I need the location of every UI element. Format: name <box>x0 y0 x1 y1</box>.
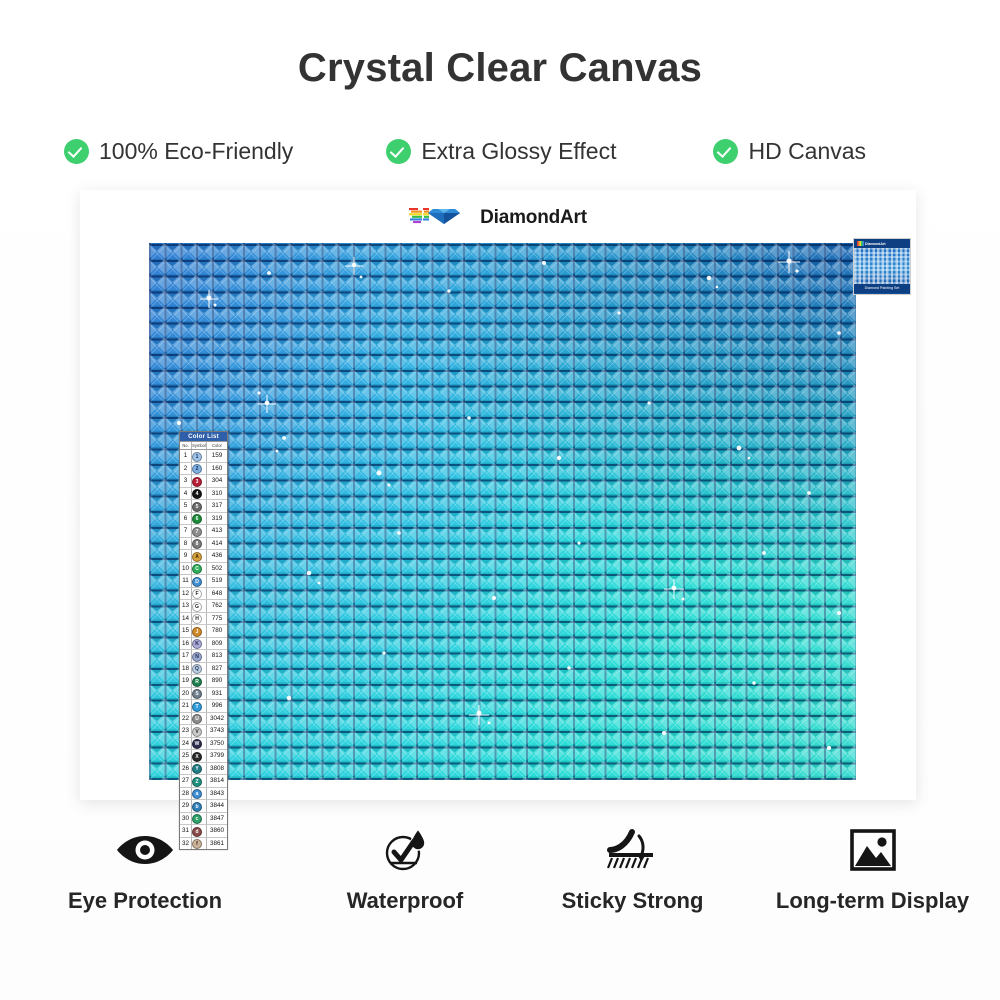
row-color-code: 931 <box>207 688 227 700</box>
row-symbol: 5 <box>192 500 207 512</box>
row-number: 24 <box>180 738 192 750</box>
row-color-code: 519 <box>207 575 227 587</box>
waterdrop-icon <box>380 826 430 874</box>
color-list-row: 17N813 <box>180 650 227 663</box>
row-number: 10 <box>180 563 192 575</box>
row-color-code: 3808 <box>207 763 227 775</box>
row-symbol: c <box>192 813 207 825</box>
symbol-chip: 8 <box>192 539 202 549</box>
row-color-code: 996 <box>207 700 227 712</box>
symbol-chip: 6 <box>192 514 202 524</box>
row-number: 28 <box>180 788 192 800</box>
color-list-row: 22U3042 <box>180 713 227 726</box>
color-list-row: 19R890 <box>180 675 227 688</box>
product-card: DiamondArt <box>80 190 916 800</box>
color-list-row: 11159 <box>180 450 227 463</box>
row-number: 4 <box>180 488 192 500</box>
row-color-code: 3847 <box>207 813 227 825</box>
check-circle-icon <box>713 139 738 164</box>
row-color-code: 3861 <box>207 838 227 850</box>
picture-icon <box>850 826 896 874</box>
thumbnail-header: DiamondArt <box>854 239 910 248</box>
row-color-code: 775 <box>207 613 227 625</box>
color-list-row: 29b3844 <box>180 800 227 813</box>
symbol-chip: W <box>192 739 202 749</box>
row-color-code: 648 <box>207 588 227 600</box>
row-symbol: 4 <box>192 488 207 500</box>
symbol-chip: C <box>192 564 202 574</box>
row-color-code: 827 <box>207 663 227 675</box>
row-number: 21 <box>180 700 192 712</box>
row-color-code: 809 <box>207 638 227 650</box>
symbol-chip: Y <box>192 764 202 774</box>
symbol-chip: D <box>192 577 202 587</box>
row-symbol: F <box>192 588 207 600</box>
row-number: 22 <box>180 713 192 725</box>
rainbow-diamond-icon <box>857 241 864 246</box>
feature-glossy-effect: Extra Glossy Effect <box>386 138 616 165</box>
eye-icon <box>114 826 176 874</box>
row-number: 9 <box>180 550 192 562</box>
row-color-code: 414 <box>207 538 227 550</box>
row-number: 13 <box>180 600 192 612</box>
color-list-row: 24W3750 <box>180 738 227 751</box>
symbol-chip: 7 <box>192 527 202 537</box>
row-number: 19 <box>180 675 192 687</box>
color-list-row: 13G762 <box>180 600 227 613</box>
row-number: 12 <box>180 588 192 600</box>
color-list-row: 21T996 <box>180 700 227 713</box>
color-list-body: 1115922160333044431055317663197741388414… <box>180 450 227 849</box>
feature-eco-friendly: 100% Eco-Friendly <box>64 138 293 165</box>
row-symbol: d <box>192 825 207 837</box>
row-symbol: 8 <box>192 538 207 550</box>
row-number: 3 <box>180 475 192 487</box>
color-list-row: 11D519 <box>180 575 227 588</box>
row-color-code: 319 <box>207 513 227 525</box>
symbol-chip: V <box>192 727 202 737</box>
row-number: 14 <box>180 613 192 625</box>
row-number: 6 <box>180 513 192 525</box>
color-list-row: 23V3743 <box>180 725 227 738</box>
row-color-code: 310 <box>207 488 227 500</box>
thumbnail-artwork <box>854 248 910 284</box>
feature-sticky-strong: Sticky Strong <box>520 826 745 914</box>
row-color-code: 3743 <box>207 725 227 737</box>
row-symbol: H <box>192 613 207 625</box>
symbol-chip: f <box>192 839 202 849</box>
row-color-code: 3843 <box>207 788 227 800</box>
color-list-row: 44310 <box>180 488 227 501</box>
color-list-legend: Color List No. Symbol Color 111592216033… <box>179 431 228 850</box>
top-feature-row: 100% Eco-Friendly Extra Glossy Effect HD… <box>0 131 1000 171</box>
symbol-chip: H <box>192 614 202 624</box>
row-number: 26 <box>180 763 192 775</box>
symbol-chip: J <box>192 627 202 637</box>
row-color-code: 3799 <box>207 750 227 762</box>
adhesive-icon <box>606 826 660 874</box>
row-symbol: T <box>192 700 207 712</box>
row-symbol: S <box>192 688 207 700</box>
row-symbol: f <box>192 838 207 850</box>
page-title: Crystal Clear Canvas <box>0 46 1000 91</box>
row-number: 20 <box>180 688 192 700</box>
symbol-chip: d <box>192 827 202 837</box>
brand-header: DiamondArt <box>80 204 916 231</box>
row-color-code: 160 <box>207 463 227 475</box>
color-list-row: 33304 <box>180 475 227 488</box>
feature-label: Long-term Display <box>776 888 969 914</box>
symbol-chip: a <box>192 789 202 799</box>
symbol-chip: F <box>192 589 202 599</box>
row-color-code: 413 <box>207 525 227 537</box>
symbol-chip: 5 <box>192 502 202 512</box>
row-color-code: 436 <box>207 550 227 562</box>
row-symbol: 7 <box>192 525 207 537</box>
color-list-row: 10C502 <box>180 563 227 576</box>
feature-label: Sticky Strong <box>562 888 704 914</box>
row-number: 30 <box>180 813 192 825</box>
column-header-color: Color <box>207 442 227 449</box>
feature-label: HD Canvas <box>748 138 866 165</box>
row-color-code: 159 <box>207 450 227 462</box>
row-number: 16 <box>180 638 192 650</box>
row-number: 11 <box>180 575 192 587</box>
color-list-row: 77413 <box>180 525 227 538</box>
symbol-chip: U <box>192 714 202 724</box>
color-list-header: No. Symbol Color <box>180 441 227 450</box>
row-color-code: 317 <box>207 500 227 512</box>
row-color-code: 502 <box>207 563 227 575</box>
symbol-chip: R <box>192 677 202 687</box>
symbol-chip: K <box>192 639 202 649</box>
row-symbol: V <box>192 725 207 737</box>
color-list-row: 66319 <box>180 513 227 526</box>
row-color-code: 890 <box>207 675 227 687</box>
row-number: 27 <box>180 775 192 787</box>
row-color-code: 3042 <box>207 713 227 725</box>
row-symbol: W <box>192 738 207 750</box>
row-number: 7 <box>180 525 192 537</box>
row-color-code: 813 <box>207 650 227 662</box>
symbol-chip: 4 <box>192 489 202 499</box>
row-color-code: 780 <box>207 625 227 637</box>
symbol-chip: Z <box>192 777 202 787</box>
bottom-feature-row: Eye Protection Waterproof <box>0 826 1000 914</box>
color-list-row: 12F648 <box>180 588 227 601</box>
row-symbol: U <box>192 713 207 725</box>
color-list-row: 88414 <box>180 538 227 551</box>
color-list-row: 55317 <box>180 500 227 513</box>
feature-long-term-display: Long-term Display <box>745 826 1000 914</box>
color-list-row: 30c3847 <box>180 813 227 826</box>
symbol-chip: A <box>192 552 202 562</box>
symbol-chip: N <box>192 652 202 662</box>
color-list-row: 15J780 <box>180 625 227 638</box>
row-symbol: K <box>192 638 207 650</box>
color-list-row: 25X3799 <box>180 750 227 763</box>
color-list-row: 28a3843 <box>180 788 227 801</box>
row-color-code: 304 <box>207 475 227 487</box>
row-number: 32 <box>180 838 192 850</box>
row-symbol: 6 <box>192 513 207 525</box>
column-header-no: No. <box>180 442 192 449</box>
row-number: 2 <box>180 463 192 475</box>
feature-waterproof: Waterproof <box>290 826 520 914</box>
row-symbol: R <box>192 675 207 687</box>
row-symbol: Z <box>192 775 207 787</box>
row-number: 15 <box>180 625 192 637</box>
color-list-row: 26Y3808 <box>180 763 227 776</box>
symbol-chip: 2 <box>192 464 202 474</box>
check-circle-icon <box>386 139 411 164</box>
promo-page: Crystal Clear Canvas 100% Eco-Friendly E… <box>0 0 1000 1000</box>
symbol-chip: X <box>192 752 202 762</box>
row-color-code: 3814 <box>207 775 227 787</box>
product-thumbnail: DiamondArt Diamond Painting Set <box>853 238 911 295</box>
feature-label: Extra Glossy Effect <box>421 138 616 165</box>
diamond-logo-icon <box>409 204 473 231</box>
symbol-chip: 1 <box>192 452 202 462</box>
column-header-symbol: Symbol <box>192 442 207 449</box>
row-number: 29 <box>180 800 192 812</box>
row-number: 25 <box>180 750 192 762</box>
row-symbol: a <box>192 788 207 800</box>
thumbnail-brand: DiamondArt <box>865 242 886 246</box>
row-number: 8 <box>180 538 192 550</box>
color-list-row: 18Q827 <box>180 663 227 676</box>
row-color-code: 762 <box>207 600 227 612</box>
row-symbol: D <box>192 575 207 587</box>
symbol-chip: T <box>192 702 202 712</box>
color-list-title: Color List <box>180 432 227 441</box>
row-number: 5 <box>180 500 192 512</box>
check-circle-icon <box>64 139 89 164</box>
feature-hd-canvas: HD Canvas <box>713 138 866 165</box>
color-list-row: 27Z3814 <box>180 775 227 788</box>
row-symbol: A <box>192 550 207 562</box>
symbol-chip: c <box>192 814 202 824</box>
row-symbol: b <box>192 800 207 812</box>
row-symbol: J <box>192 625 207 637</box>
thumbnail-caption: Diamond Painting Set <box>854 284 910 293</box>
row-symbol: X <box>192 750 207 762</box>
row-symbol: 1 <box>192 450 207 462</box>
row-symbol: 3 <box>192 475 207 487</box>
row-symbol: N <box>192 650 207 662</box>
color-list-row: 14H775 <box>180 613 227 626</box>
feature-eye-protection: Eye Protection <box>0 826 290 914</box>
color-list-row: 22160 <box>180 463 227 476</box>
row-color-code: 3844 <box>207 800 227 812</box>
symbol-chip: 3 <box>192 477 202 487</box>
symbol-chip: S <box>192 689 202 699</box>
diamond-drill-canvas <box>149 243 856 780</box>
row-symbol: G <box>192 600 207 612</box>
row-number: 1 <box>180 450 192 462</box>
symbol-chip: Q <box>192 664 202 674</box>
row-symbol: C <box>192 563 207 575</box>
feature-label: Waterproof <box>347 888 464 914</box>
brand-name: DiamondArt <box>480 207 587 229</box>
row-symbol: 2 <box>192 463 207 475</box>
color-list-row: 31d3860 <box>180 825 227 838</box>
color-list-row: 32f3861 <box>180 838 227 850</box>
row-symbol: Q <box>192 663 207 675</box>
row-color-code: 3750 <box>207 738 227 750</box>
symbol-chip: G <box>192 602 202 612</box>
row-color-code: 3860 <box>207 825 227 837</box>
symbol-chip: b <box>192 802 202 812</box>
color-list-row: 20S931 <box>180 688 227 701</box>
row-number: 23 <box>180 725 192 737</box>
feature-label: Eye Protection <box>68 888 222 914</box>
canvas-sparkles <box>149 243 856 780</box>
color-list-row: 9A436 <box>180 550 227 563</box>
color-list-row: 16K809 <box>180 638 227 651</box>
row-number: 31 <box>180 825 192 837</box>
feature-label: 100% Eco-Friendly <box>99 138 293 165</box>
row-number: 17 <box>180 650 192 662</box>
row-symbol: Y <box>192 763 207 775</box>
row-number: 18 <box>180 663 192 675</box>
